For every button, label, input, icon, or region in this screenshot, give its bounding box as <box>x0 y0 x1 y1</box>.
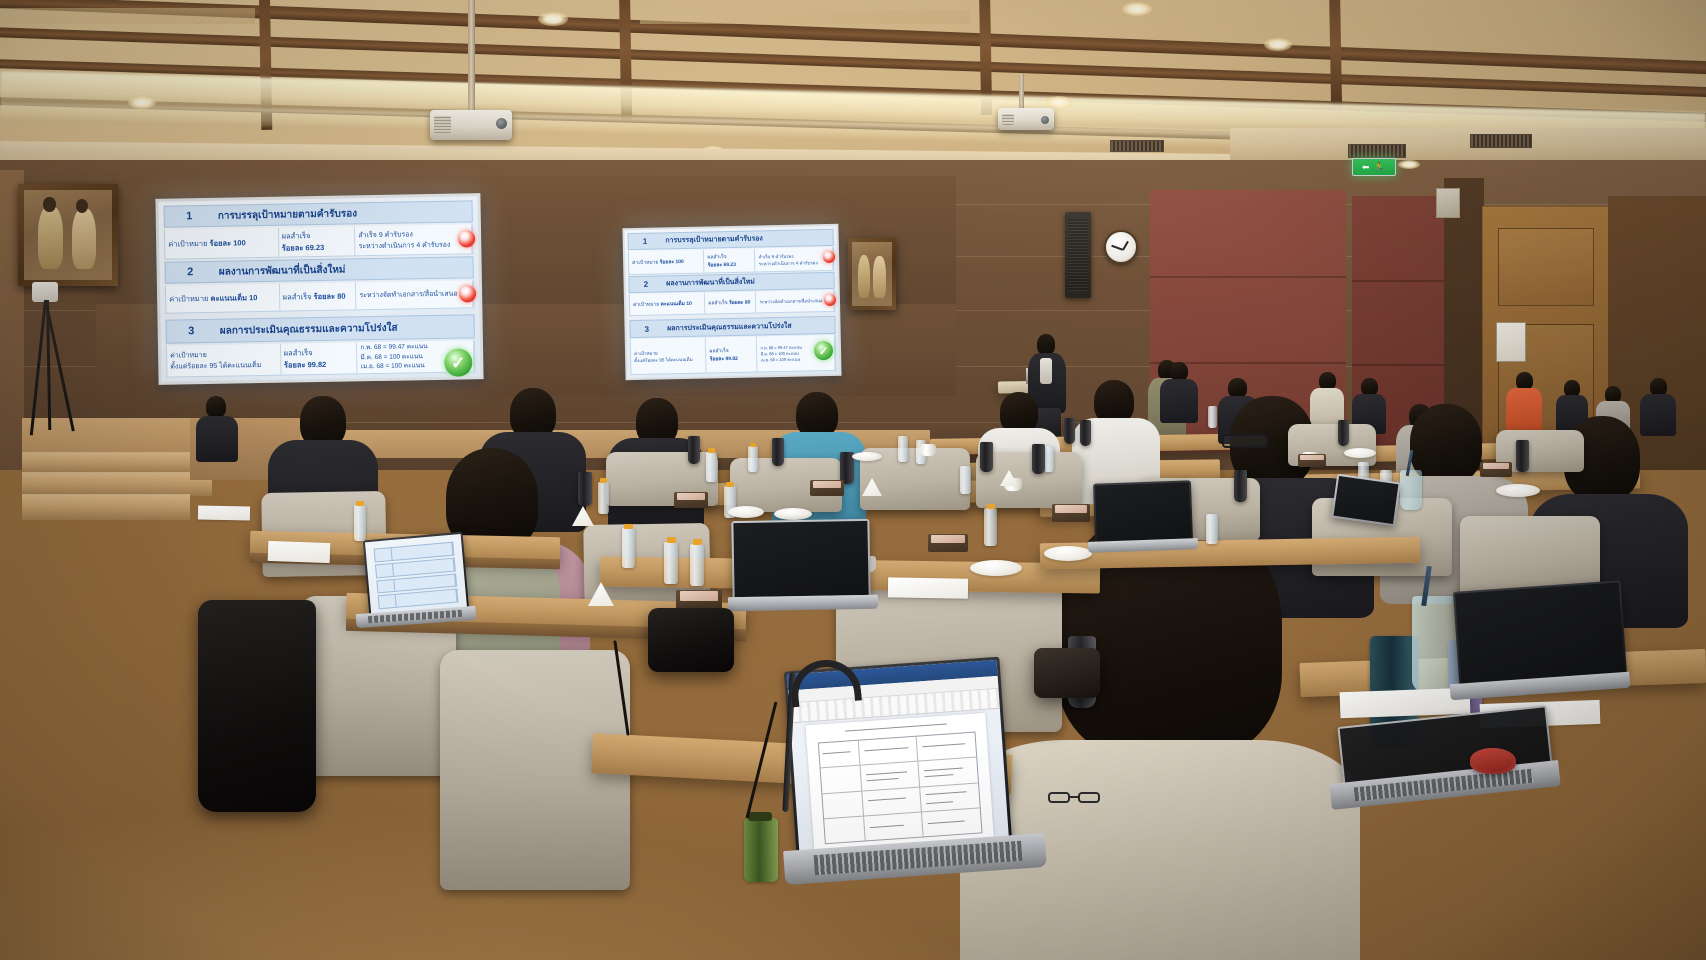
drink-tumbler[interactable] <box>1080 420 1091 446</box>
ac-grille <box>1348 144 1406 158</box>
slide-cell-target: ค่าเป้าหมาย คะแนนเต็ม 10 <box>630 293 706 316</box>
royal-portrait-left <box>18 184 118 286</box>
word-table <box>817 732 983 845</box>
snack-box[interactable] <box>810 480 844 496</box>
water-bottle[interactable] <box>622 528 635 568</box>
plate <box>774 508 812 520</box>
wall-speaker <box>1065 212 1091 298</box>
slide-row-heading: การบรรลุเป้าหมายตามคำรับรอง <box>661 232 833 247</box>
status-badge-in-progress <box>458 230 475 247</box>
document-paper[interactable] <box>268 541 331 563</box>
slide-content-right: 1 การบรรลุเป้าหมายตามคำรับรอง ค่าเป้าหมา… <box>624 226 839 378</box>
document-paper[interactable] <box>888 577 968 598</box>
snack-box[interactable] <box>1052 504 1090 522</box>
slide-row-heading: การบรรลุเป้าหมายตามคำรับรอง <box>214 204 472 223</box>
slide-content-left: 1 การบรรลุเป้าหมายตามคำรับรอง ค่าเป้าหมา… <box>158 196 480 382</box>
slide-cell-note: สำเร็จ 9 คำรับรอง ระหว่างดำเนินการ 4 คำร… <box>755 247 833 272</box>
plate <box>1044 546 1092 561</box>
status-badge-complete: ✓ <box>444 348 472 376</box>
slide-row-body: ค่าเป้าหมาย ร้อยละ 100 ผลสำเร็จ ร้อยละ 6… <box>164 224 473 259</box>
plate <box>1496 484 1540 497</box>
slide-row-number: 3 <box>167 325 216 338</box>
stage-step <box>22 494 190 520</box>
water-bottle[interactable] <box>598 482 609 514</box>
slide-cell-target: ค่าเป้าหมาย ตั้งแต่ร้อยละ 95 ได้คะแนนเต็… <box>167 344 281 377</box>
bag[interactable] <box>648 608 734 672</box>
status-badge-in-progress <box>824 294 836 306</box>
laptop[interactable] <box>728 520 878 620</box>
slide-row-number: 2 <box>166 266 215 279</box>
snack-box[interactable] <box>928 534 968 552</box>
wall-notice <box>1436 188 1460 218</box>
conference-room-scene: ⬅ 🏃 1 การบรรลุเป้าหมา <box>0 0 1706 960</box>
slide-cell-result: ผลสำเร็จ ร้อยละ 69.23 <box>704 248 755 272</box>
eyeglasses-on-table[interactable] <box>1048 790 1104 804</box>
water-bottle[interactable] <box>706 452 717 482</box>
ceiling-downlight <box>1398 160 1420 169</box>
drink-tumbler[interactable] <box>578 472 592 506</box>
slide-row-heading: ผลงานการพัฒนาที่เป็นสิ่งใหม่ <box>215 260 473 279</box>
laptop[interactable] <box>1330 716 1560 836</box>
slide-row-body: ค่าเป้าหมาย ตั้งแต่ร้อยละ 95 ได้คะแนนเต็… <box>166 340 476 377</box>
water-bottle[interactable] <box>898 436 908 462</box>
water-bottle[interactable] <box>690 544 704 586</box>
red-object[interactable] <box>1470 748 1514 772</box>
slide-row-number: 2 <box>630 279 663 289</box>
slide-row-number: 3 <box>630 324 663 334</box>
drink-tumbler[interactable] <box>688 436 700 464</box>
tablet[interactable] <box>1334 478 1404 532</box>
ceiling-downlight <box>1264 38 1292 51</box>
document-paper[interactable] <box>198 506 250 521</box>
drink-tumbler[interactable] <box>1338 420 1349 446</box>
slide-cell-result: ผลสำเร็จ ร้อยละ 80 <box>279 282 356 310</box>
attendee <box>196 396 240 460</box>
wall-clock <box>1104 230 1138 264</box>
slide-row-header: 1 การบรรลุเป้าหมายตามคำรับรอง <box>164 200 473 227</box>
water-bottle[interactable] <box>1206 514 1218 544</box>
slide-row-header: 2 ผลงานการพัฒนาที่เป็นสิ่งใหม่ <box>164 256 473 283</box>
ac-grille <box>1470 134 1532 148</box>
status-badge-in-progress <box>459 285 476 302</box>
drink-tumbler[interactable] <box>1032 444 1045 474</box>
snack-box[interactable] <box>1480 462 1512 477</box>
water-bottle[interactable] <box>748 446 758 472</box>
projection-screen-right: 1 การบรรลุเป้าหมายตามคำรับรอง ค่าเป้าหมา… <box>622 224 841 380</box>
exit-sign-label: ⬅ 🏃 <box>1362 163 1386 172</box>
drink-tumbler[interactable] <box>1516 440 1529 472</box>
slide-row-number: 1 <box>165 210 214 223</box>
laptop[interactable] <box>356 536 476 646</box>
ceiling-downlight <box>128 96 156 109</box>
ceiling-downlight <box>1122 2 1152 16</box>
bag[interactable] <box>1034 648 1100 698</box>
water-bottle[interactable] <box>1208 406 1217 428</box>
blue-table-document <box>373 542 459 609</box>
plate <box>728 506 764 518</box>
projection-screen-left: 1 การบรรลุเป้าหมายตามคำรับรอง ค่าเป้าหมา… <box>155 193 483 385</box>
snack-box[interactable] <box>674 492 708 508</box>
slide-cell-result: ผลสำเร็จ ร้อยละ 99.82 <box>281 342 358 374</box>
drink-tumbler[interactable] <box>772 438 784 466</box>
laptop-screen <box>1455 582 1625 685</box>
backpack[interactable] <box>198 600 316 812</box>
tablet-screen <box>1334 476 1399 524</box>
ceiling-projector <box>998 108 1054 130</box>
ceiling-projector <box>430 110 512 140</box>
plate <box>852 452 882 461</box>
projector-mount-pole <box>1019 74 1024 112</box>
slide-cell-target: ค่าเป้าหมาย ร้อยละ 100 <box>165 228 279 259</box>
projector-mount-pole <box>468 0 475 112</box>
slide-row-body: ค่าเป้าหมาย ร้อยละ 100 ผลสำเร็จ ร้อยละ 6… <box>628 247 834 275</box>
laptop[interactable] <box>1088 482 1198 562</box>
slide-cell-target: ค่าเป้าหมาย ร้อยละ 100 <box>629 250 705 275</box>
attendee <box>1160 362 1200 420</box>
water-bottle[interactable] <box>960 466 971 494</box>
laptop[interactable] <box>1450 586 1630 716</box>
stage-step <box>22 472 212 496</box>
royal-portrait-right <box>848 238 896 310</box>
drink-tumbler[interactable] <box>1234 470 1247 502</box>
slide-cell-note: ระหว่างจัดทำเอกสาร/สื่อนำเสนอ <box>756 290 834 313</box>
water-bottle[interactable] <box>984 508 997 546</box>
drink-tumbler[interactable] <box>980 442 993 472</box>
water-bottle[interactable] <box>1044 446 1054 472</box>
snack-box[interactable] <box>1298 454 1326 467</box>
slide-row-heading: ผลการประเมินคุณธรรมและความโปร่งใส <box>216 319 474 338</box>
slide-row-body: ค่าเป้าหมาย คะแนนเต็ม 10 ผลสำเร็จ ร้อยละ… <box>629 290 835 316</box>
slide-cell-result: ผลสำเร็จ ร้อยละ 80 <box>705 291 756 313</box>
eyeglasses <box>1222 434 1268 448</box>
slide-row-header: 3 ผลการประเมินคุณธรรมและความโปร่งใส <box>166 314 475 343</box>
slide-cell-result: ผลสำเร็จ ร้อยละ 69.23 <box>279 226 356 256</box>
water-bottle[interactable] <box>664 542 678 584</box>
slide-row-heading: ผลงานการพัฒนาที่เป็นสิ่งใหม่ <box>662 275 834 290</box>
plate <box>1344 448 1376 458</box>
exit-sign: ⬅ 🏃 <box>1352 158 1396 176</box>
slide-cell-target: ค่าเป้าหมาย ตั้งแต่ร้อยละ 95 ได้คะแนนเต็… <box>631 338 707 375</box>
laptop-screen <box>365 534 467 616</box>
ac-grille <box>1110 140 1164 152</box>
slide-cell-note: สำเร็จ 9 คำรับรอง ระหว่างดำเนินการ 4 คำร… <box>355 224 472 255</box>
drink-tumbler[interactable] <box>1064 418 1075 444</box>
green-drink-bottle[interactable] <box>744 818 778 882</box>
ceiling-downlight <box>538 12 568 26</box>
slide-cell-result: ผลสำเร็จ ร้อยละ 99.82 <box>706 336 758 372</box>
status-badge-in-progress <box>823 251 835 263</box>
slide-row-number: 1 <box>629 236 662 246</box>
laptop-screen <box>1095 482 1191 541</box>
word-document-page <box>805 713 994 853</box>
laptop-foreground[interactable] <box>790 664 1050 960</box>
slide-cell-note: ระหว่างจัดทำเอกสาร/สื่อนำเสนอ <box>356 280 473 309</box>
wall-poster <box>1496 322 1526 362</box>
plate <box>970 560 1022 576</box>
slide-row-heading: ผลการประเมินคุณธรรมและความโปร่งใส <box>663 319 835 334</box>
slide-cell-target: ค่าเป้าหมาย คะแนนเต็ม 10 <box>166 284 280 313</box>
coffee-cup[interactable] <box>920 444 936 456</box>
laptop-screen <box>733 521 868 597</box>
slide-row-body: ค่าเป้าหมาย ตั้งแต่ร้อยละ 95 ได้คะแนนเต็… <box>630 335 837 375</box>
slide-row-body: ค่าเป้าหมาย คะแนนเต็ม 10 ผลสำเร็จ ร้อยละ… <box>165 280 474 313</box>
